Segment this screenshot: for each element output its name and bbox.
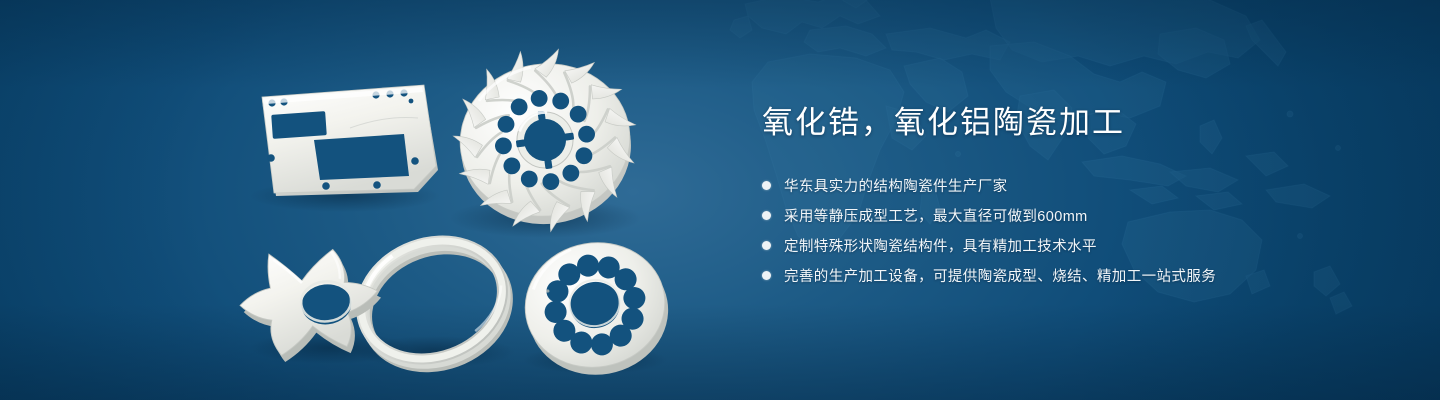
bullet-dot-icon (762, 181, 771, 190)
ceramic-products-photo (0, 0, 760, 400)
feature-item-3: 定制特殊形状陶瓷结构件，具有精加工技术水平 (762, 233, 1382, 257)
banner-headline: 氧化锆，氧化铝陶瓷加工 (762, 104, 1382, 141)
feature-item-3-label: 定制特殊形状陶瓷结构件，具有精加工技术水平 (784, 235, 1097, 256)
banner-feature-list: 华东具实力的结构陶瓷件生产厂家 采用等静压成型工艺，最大直径可做到600mm 定… (762, 173, 1382, 287)
feature-item-4: 完善的生产加工设备，可提供陶瓷成型、烧结、精加工一站式服务 (762, 263, 1382, 287)
banner-text-column: 氧化锆，氧化铝陶瓷加工 华东具实力的结构陶瓷件生产厂家 采用等静压成型工艺，最大… (762, 104, 1382, 293)
ceramic-plate-part (262, 85, 438, 196)
bullet-dot-icon (762, 271, 771, 280)
feature-item-1: 华东具实力的结构陶瓷件生产厂家 (762, 173, 1382, 197)
feature-item-1-label: 华东具实力的结构陶瓷件生产厂家 (784, 175, 1008, 196)
bullet-dot-icon (762, 211, 771, 220)
bullet-dot-icon (762, 241, 771, 250)
feature-item-4-label: 完善的生产加工设备，可提供陶瓷成型、烧结、精加工一站式服务 (784, 265, 1216, 286)
feature-item-2-label: 采用等静压成型工艺，最大直径可做到600mm (784, 205, 1088, 226)
promo-banner: 氧化锆，氧化铝陶瓷加工 华东具实力的结构陶瓷件生产厂家 采用等静压成型工艺，最大… (0, 0, 1440, 400)
feature-item-2: 采用等静压成型工艺，最大直径可做到600mm (762, 203, 1382, 227)
